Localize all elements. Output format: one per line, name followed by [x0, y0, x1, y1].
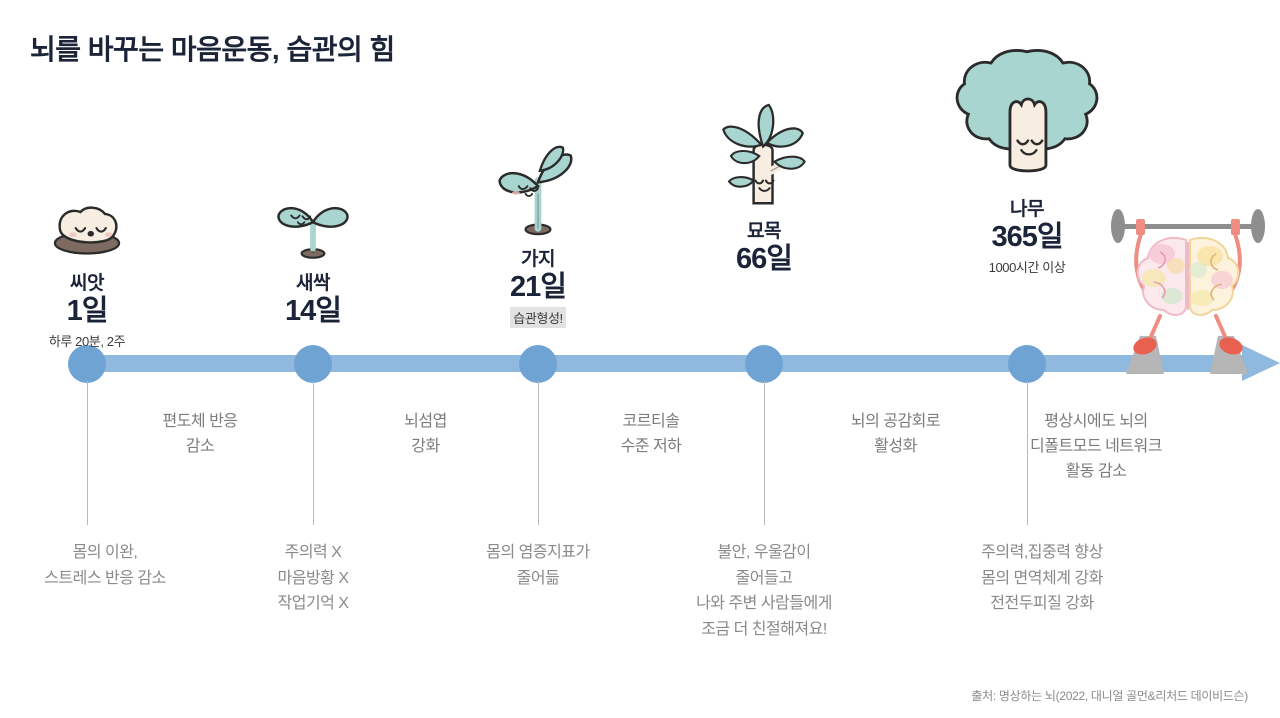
lower-note-sprout: 주의력 X마음방황 X작업기억 X: [183, 540, 443, 617]
stage-column-tree: 나무365일1000시간 이상: [917, 78, 1137, 277]
lower-note-tree: 주의력,집중력 향상몸의 면역체계 강화전전두피질 강화: [912, 540, 1172, 617]
sapling-icon: [654, 100, 874, 210]
lower-note-line: 줄어듦: [408, 566, 668, 592]
infographic-canvas: 뇌를 바꾸는 마음운동, 습관의 힘: [0, 0, 1280, 718]
upper-note-line: 수준 저하: [531, 435, 771, 460]
timeline-bar: [87, 355, 1250, 372]
stage-name-sprout: 새싹: [203, 268, 423, 295]
lower-note-line: 주의력,집중력 향상: [912, 540, 1172, 566]
stage-name-seed: 씨앗: [0, 268, 197, 295]
lower-note-line: 줄어들고: [634, 566, 894, 592]
upper-note-line: 코르티솔: [531, 410, 771, 435]
upper-note-line: 평상시에도 뇌의: [976, 410, 1216, 435]
upper-note-sapling: 코르티솔수준 저하: [531, 410, 771, 460]
timeline-node-sapling[interactable]: [745, 345, 783, 383]
lower-note-line: 주의력 X: [183, 540, 443, 566]
lower-note-sapling: 불안, 우울감이줄어들고나와 주변 사람들에게조금 더 친절해져요!: [634, 540, 894, 642]
stage-column-branch: 가지21일습관형성!: [428, 128, 648, 328]
source-citation: 출처: 명상하는 뇌(2022, 대니얼 골먼&리처드 데이비드슨): [971, 687, 1248, 704]
stage-column-sapling: 묘목66일: [654, 100, 874, 276]
upper-note-line: 강화: [306, 435, 546, 460]
stage-column-sprout: 새싹14일: [203, 152, 423, 328]
lower-note-line: 몸의 염증지표가: [408, 540, 668, 566]
timeline-node-sprout[interactable]: [294, 345, 332, 383]
upper-note-line: 편도체 반응: [80, 410, 320, 435]
lower-note-line: 마음방황 X: [183, 566, 443, 592]
stage-days-sprout: 14일: [203, 296, 423, 328]
stage-days-seed: 1일: [0, 296, 197, 328]
lower-note-line: 작업기억 X: [183, 591, 443, 617]
timeline-node-branch[interactable]: [519, 345, 557, 383]
lower-note-line: 전전두피질 강화: [912, 591, 1172, 617]
lower-note-branch: 몸의 염증지표가줄어듦: [408, 540, 668, 591]
branch-icon: [428, 128, 648, 238]
stage-days-branch: 21일: [428, 272, 648, 304]
upper-note-line: 활동 감소: [976, 460, 1216, 485]
stage-days-tree: 365일: [917, 222, 1137, 254]
sprout-icon: [203, 152, 423, 262]
lower-note-line: 불안, 우울감이: [634, 540, 894, 566]
upper-note-sprout: 편도체 반응감소: [80, 410, 320, 460]
upper-note-beyond: 평상시에도 뇌의디폴트모드 네트워크활동 감소: [976, 410, 1216, 484]
upper-note-line: 디폴트모드 네트워크: [976, 435, 1216, 460]
upper-note-branch: 뇌섬엽강화: [306, 410, 546, 460]
upper-note-line: 뇌섬엽: [306, 410, 546, 435]
tree-icon: [917, 78, 1137, 188]
stage-days-sapling: 66일: [654, 244, 874, 276]
stage-subtitle-tree: 1000시간 이상: [989, 257, 1066, 276]
timeline-node-tree[interactable]: [1008, 345, 1046, 383]
lower-note-line: 조금 더 친절해져요!: [634, 617, 894, 643]
seed-icon: [0, 152, 197, 262]
stage-subtitle-branch: 습관형성!: [510, 307, 565, 328]
lower-note-line: 나와 주변 사람들에게: [634, 591, 894, 617]
stage-name-branch: 가지: [428, 244, 648, 271]
stage-subtitle-seed: 하루 20분, 2주: [49, 331, 125, 350]
upper-note-line: 감소: [80, 435, 320, 460]
stage-name-tree: 나무: [917, 194, 1137, 221]
page-title: 뇌를 바꾸는 마음운동, 습관의 힘: [30, 28, 395, 68]
stage-name-sapling: 묘목: [654, 216, 874, 243]
stage-column-seed: 씨앗1일하루 20분, 2주: [0, 152, 197, 351]
lower-note-line: 몸의 면역체계 강화: [912, 566, 1172, 592]
